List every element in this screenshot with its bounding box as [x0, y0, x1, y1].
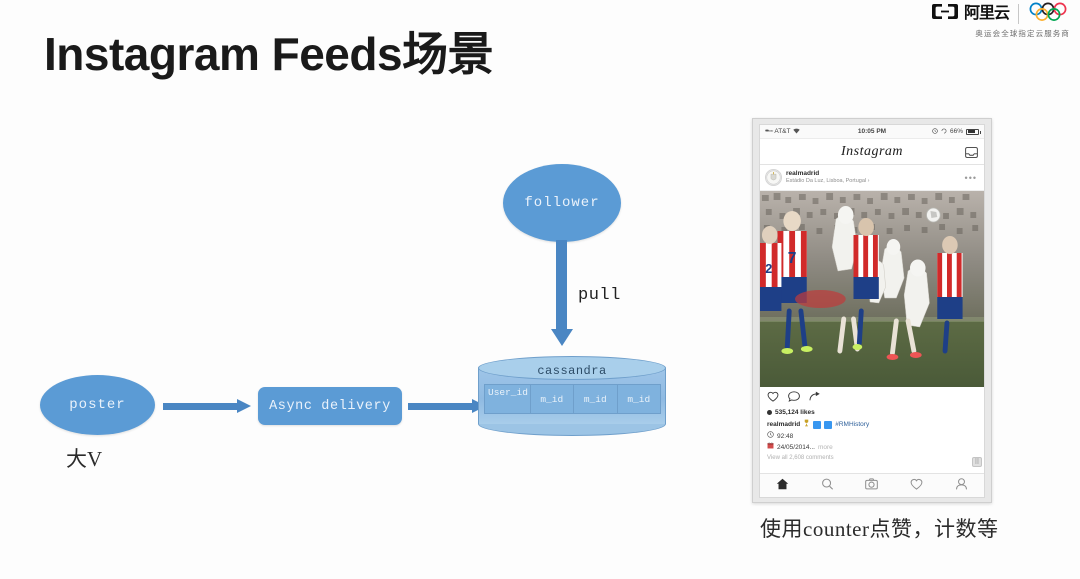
- phone-mockup: ••◦◦◦ AT&T 10:05 PM 66%: [752, 118, 992, 503]
- node-poster-label: poster: [69, 395, 125, 415]
- post-caption: realmadrid #RMHistory: [767, 419, 977, 430]
- svg-text:2: 2: [765, 261, 772, 276]
- node-cassandra-database[interactable]: cassandra User_id m_id m_id m_id: [478, 356, 666, 436]
- post-location[interactable]: Estádio Da Luz, Lisboa, Portugal ›: [786, 178, 961, 185]
- trophy-icon: [803, 419, 810, 430]
- arrow-head: [237, 399, 251, 413]
- battery-percent-label: 66%: [950, 128, 963, 135]
- node-poster-sublabel: 大V: [66, 443, 102, 473]
- arrow-follower-to-cassandra: [551, 240, 573, 346]
- clock-icon: [767, 431, 774, 441]
- caption-hashtag[interactable]: #RMHistory: [835, 420, 869, 429]
- phone-screen: ••◦◦◦ AT&T 10:05 PM 66%: [759, 124, 985, 498]
- arrow-async-to-cassandra: [408, 399, 486, 413]
- post-meta: 535,124 likes realmadrid #RMHistory 92:4…: [760, 408, 984, 462]
- instagram-wordmark: Instagram: [841, 144, 903, 160]
- clock-label: 10:05 PM: [858, 128, 886, 135]
- likes-count: 535,124 likes: [775, 408, 815, 417]
- database-cell: m_id: [573, 384, 618, 414]
- likes-count-row: 535,124 likes: [767, 408, 977, 417]
- match-date: 24/05/2014...: [777, 443, 815, 452]
- rotation-lock-icon: [941, 128, 947, 136]
- node-async-delivery-label: Async delivery: [269, 399, 391, 414]
- signal-dots-icon: ••◦◦◦: [765, 128, 772, 135]
- battery-icon: [966, 129, 979, 135]
- caption-username[interactable]: realmadrid: [767, 420, 800, 429]
- likes-bullet-icon: [767, 410, 772, 415]
- resize-handle-icon[interactable]: ⠿: [972, 457, 982, 467]
- football-match-photo: 7 2: [760, 191, 984, 387]
- arrow-label-pull: pull: [578, 286, 621, 305]
- phone-caption: 使用counter点赞，计数等: [760, 513, 998, 543]
- arrow-head: [551, 329, 573, 346]
- node-async-delivery[interactable]: Async delivery: [258, 387, 402, 425]
- tab-search-icon[interactable]: [821, 477, 834, 495]
- alarm-icon: [932, 128, 938, 136]
- svg-text:7: 7: [788, 250, 797, 267]
- database-cell: m_id: [617, 384, 662, 414]
- arrow-poster-to-async: [163, 399, 251, 413]
- node-poster[interactable]: poster: [40, 375, 155, 435]
- post-action-bar: [760, 387, 984, 408]
- emoji-icon: [824, 421, 832, 429]
- avatar[interactable]: [765, 169, 782, 186]
- database-row: User_id m_id m_id m_id: [484, 384, 660, 414]
- app-tabbar: [760, 473, 984, 497]
- match-date-row: 24/05/2014... more: [767, 442, 977, 452]
- database-cell: m_id: [530, 384, 575, 414]
- tab-activity-icon[interactable]: [910, 477, 923, 495]
- post-username[interactable]: realmadrid: [786, 170, 961, 178]
- view-all-comments-link[interactable]: View all 2,608 comments: [767, 454, 977, 462]
- tab-profile-icon[interactable]: [955, 477, 968, 495]
- node-follower-label: follower: [524, 193, 599, 213]
- arrow-shaft: [163, 403, 238, 410]
- status-bar: ••◦◦◦ AT&T 10:05 PM 66%: [760, 125, 984, 139]
- app-navbar: Instagram: [760, 139, 984, 165]
- wifi-icon: [793, 128, 800, 136]
- direct-inbox-icon[interactable]: [965, 145, 978, 163]
- node-follower[interactable]: follower: [503, 164, 621, 242]
- calendar-icon: [767, 442, 774, 452]
- arrow-shaft: [556, 240, 567, 330]
- heart-icon[interactable]: [767, 389, 779, 407]
- post-photo: 7 2: [760, 191, 984, 387]
- arrow-shaft: [408, 403, 473, 410]
- emoji-icon: [813, 421, 821, 429]
- carrier-label: AT&T: [774, 128, 790, 135]
- tab-home-icon[interactable]: [776, 477, 789, 495]
- database-cell: User_id: [484, 384, 531, 414]
- share-icon[interactable]: [809, 389, 821, 407]
- more-options-icon[interactable]: •••: [965, 173, 979, 183]
- match-time-row: 92:48: [767, 431, 977, 441]
- slide-canvas: Instagram Feeds场景 阿里云: [0, 0, 1080, 579]
- match-time: 92:48: [777, 432, 793, 441]
- more-link[interactable]: more: [818, 443, 833, 452]
- post-header: realmadrid Estádio Da Luz, Lisboa, Portu…: [760, 165, 984, 191]
- comment-icon[interactable]: [788, 389, 800, 407]
- tab-camera-icon[interactable]: [865, 477, 878, 495]
- database-label: cassandra: [478, 364, 666, 378]
